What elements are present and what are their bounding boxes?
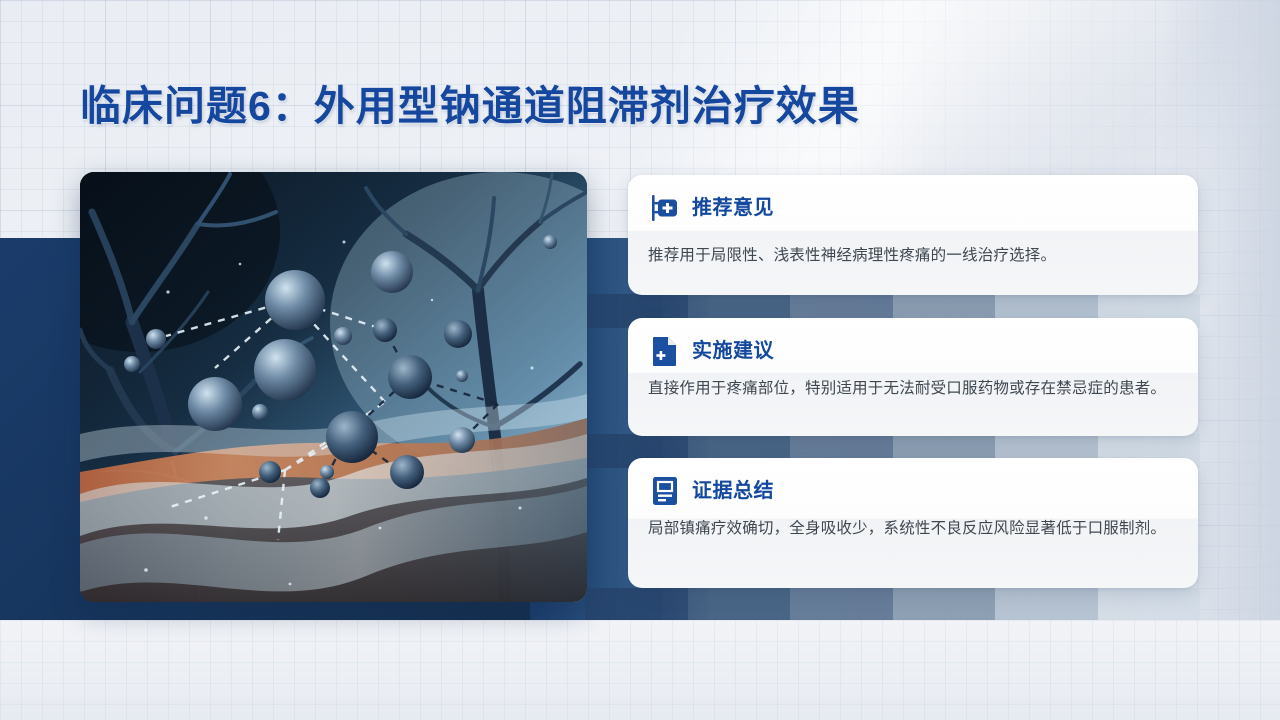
card-recommendation: 推荐意见 推荐用于局限性、浅表性神经病理性疼痛的一线治疗选择。 xyxy=(628,175,1198,295)
card-header: 证据总结 xyxy=(650,476,1176,506)
file-plus-icon xyxy=(650,336,680,366)
card-title: 证据总结 xyxy=(692,481,774,501)
card-title: 推荐意见 xyxy=(692,198,774,218)
card-implementation: 实施建议 直接作用于疼痛部位，特别适用于无法耐受口服药物或存在禁忌症的患者。 xyxy=(628,318,1198,436)
report-book-icon xyxy=(650,476,680,506)
neuron-network-illustration xyxy=(80,172,587,602)
card-body: 推荐用于局限性、浅表性神经病理性疼痛的一线治疗选择。 xyxy=(648,243,1176,268)
card-title: 实施建议 xyxy=(692,341,774,361)
card-body: 直接作用于疼痛部位，特别适用于无法耐受口服药物或存在禁忌症的患者。 xyxy=(648,376,1176,401)
card-header: 推荐意见 xyxy=(650,193,1176,223)
decor-step-bar-3 xyxy=(585,588,1200,622)
page-title: 临床问题6：外用型钠通道阻滞剂治疗效果 xyxy=(80,72,860,132)
slide-canvas: 临床问题6：外用型钠通道阻滞剂治疗效果 xyxy=(0,0,1280,720)
card-body: 局部镇痛疗效确切，全身吸收少，系统性不良反应风险显著低于口服制剂。 xyxy=(648,516,1176,541)
decor-bottom-strip xyxy=(0,620,1280,720)
card-evidence: 证据总结 局部镇痛疗效确切，全身吸收少，系统性不良反应风险显著低于口服制剂。 xyxy=(628,458,1198,588)
card-header: 实施建议 xyxy=(650,336,1176,366)
hospital-sign-plus-icon xyxy=(650,193,680,223)
